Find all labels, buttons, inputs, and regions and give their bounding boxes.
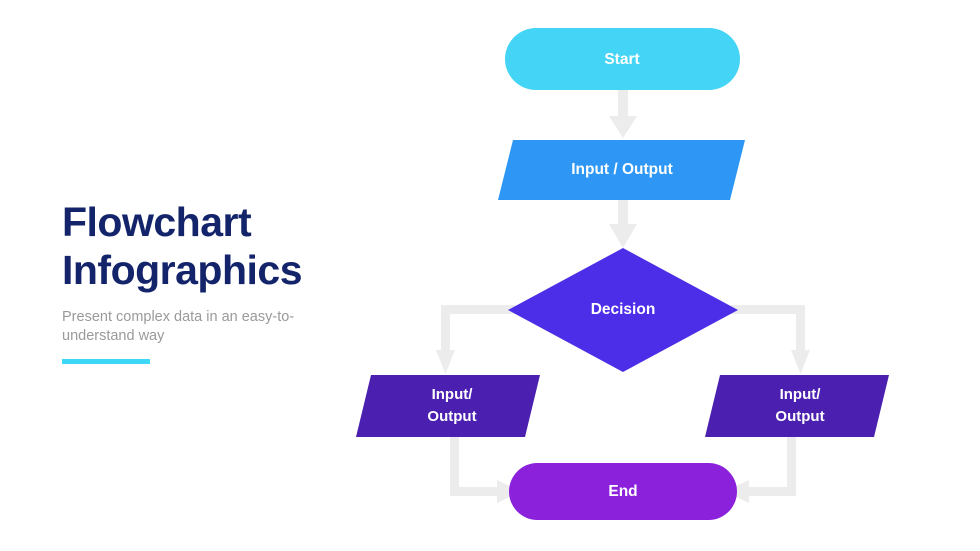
flow-node-input-output-left[interactable]: Input/ Output [356,375,540,437]
flow-node-decision[interactable]: Decision [508,248,738,372]
connector-decision-to-left-io [436,305,516,374]
flowchart-svg: Start Input / Output Decision Input/ Out… [0,0,980,551]
connector-start-to-io [609,90,637,138]
input-output-left-label-line2: Output [427,408,476,425]
slide-canvas: Flowchart Infographics Present complex d… [0,0,980,551]
flow-node-input-output-right[interactable]: Input/ Output [705,375,889,437]
flow-node-start[interactable]: Start [505,28,740,90]
input-output-top-label: Input / Output [571,161,673,178]
start-label: Start [604,51,639,68]
connector-io-to-decision [609,200,637,248]
input-output-right-label-line1: Input/ [780,386,822,403]
flowchart-diagram: Start Input / Output Decision Input/ Out… [0,0,980,551]
decision-label: Decision [591,301,656,318]
flow-node-end[interactable]: End [509,463,737,520]
input-output-right-shape [705,375,889,437]
flow-node-input-output-top[interactable]: Input / Output [498,140,745,200]
input-output-right-label-line2: Output [775,408,824,425]
connector-decision-to-right-io [731,305,810,374]
input-output-left-shape [356,375,540,437]
end-label: End [608,483,637,500]
input-output-left-label-line1: Input/ [432,386,474,403]
